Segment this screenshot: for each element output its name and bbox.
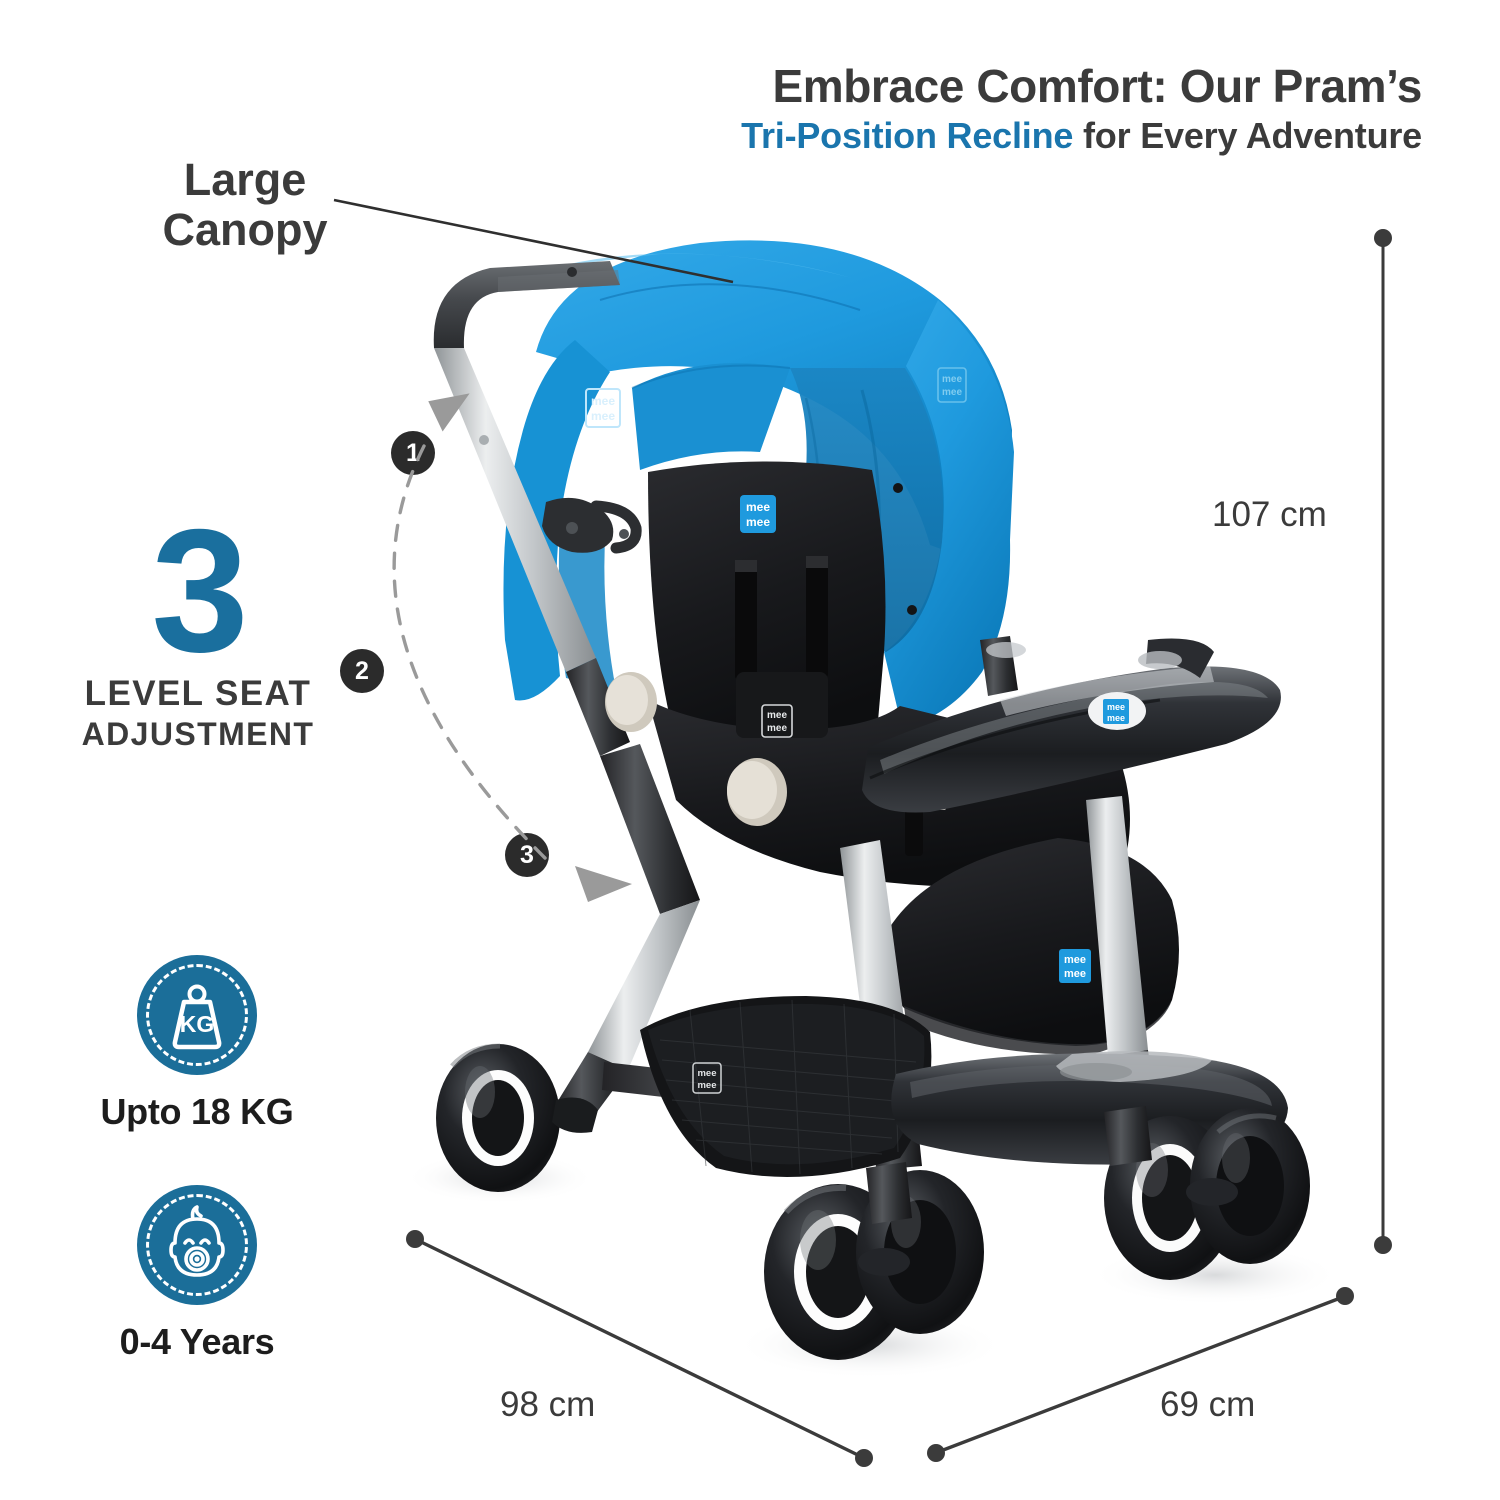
brand-logo-seat: mee mee (740, 495, 776, 533)
dimension-width-label: 69 cm (1160, 1385, 1255, 1425)
badge-age-label: 0-4 Years (52, 1321, 342, 1363)
headline-line-2: Tri-Position Recline for Every Adventure (741, 117, 1422, 155)
dimension-endpoint (1374, 1236, 1392, 1254)
rear-axle-right (1104, 1106, 1152, 1166)
frame-tube-upper (434, 348, 596, 672)
rear-wheel-mount (874, 1108, 922, 1170)
svg-text:mee: mee (942, 374, 962, 385)
baby-face-icon (137, 1185, 257, 1305)
frame-tube-rear (840, 840, 916, 1114)
badge-weight: KG Upto 18 KG (52, 955, 342, 1133)
svg-text:mee: mee (746, 500, 770, 514)
recline-step-3: 3 (505, 833, 549, 877)
brand-logo-text-bottom: mee (591, 409, 615, 423)
wheel-rear-left-back (856, 1170, 984, 1334)
seat-pivot-knob (605, 672, 657, 732)
swivel-lock (858, 1248, 910, 1276)
recline-knob (727, 758, 787, 826)
handle-bar (434, 261, 620, 348)
infographic-canvas: Embrace Comfort: Our Pram’s Tri-Position… (0, 0, 1500, 1500)
callout-large-canopy-line-1: Large (120, 155, 370, 205)
brand-logo-canopy: mee mee (586, 389, 620, 427)
brand-logo-tray: mee mee (1088, 692, 1146, 730)
seat-adjustment-line-1: LEVEL SEAT (48, 674, 348, 714)
frame (434, 348, 1156, 1170)
frame-tube-front (588, 900, 700, 1070)
svg-text:mee: mee (942, 387, 962, 398)
dimension-endpoint (406, 1230, 424, 1248)
seat-adjustment-number: 3 (48, 520, 348, 664)
svg-text:mee: mee (1107, 713, 1125, 723)
dimension-endpoint (1336, 1287, 1354, 1305)
weight-kg-icon-text: KG (180, 1011, 215, 1037)
care-tag (920, 780, 946, 810)
badge-age: 0-4 Years (52, 1185, 342, 1363)
annotation-lines (334, 200, 1392, 1467)
brand-logo-canopy-inner: mee mee (938, 368, 966, 402)
bumper-tray: mee mee (862, 636, 1281, 813)
storage-basket: mee mee (640, 996, 931, 1177)
callout-large-canopy: Large Canopy (120, 155, 370, 256)
seat-fabric: mee mee mee mee (648, 461, 1130, 887)
rear-axle-left (866, 1162, 912, 1224)
wheel-rear-right (1104, 1116, 1236, 1280)
lower-cross-tube (602, 1062, 900, 1124)
dimension-endpoint (1374, 229, 1392, 247)
seat-adjustment-line-2: ADJUSTMENT (48, 716, 348, 753)
dimension-line-width (938, 1297, 1343, 1452)
recline-arc (394, 446, 545, 858)
wheel-rear-right-back (1190, 1108, 1310, 1264)
svg-text:mee: mee (1064, 968, 1086, 980)
canopy-rivet (869, 683, 879, 693)
svg-text:mee: mee (767, 710, 787, 721)
dimension-length-label: 98 cm (500, 1385, 595, 1425)
crotch-pad (736, 672, 828, 738)
headline: Embrace Comfort: Our Pram’s Tri-Position… (741, 62, 1422, 155)
footrest (891, 1051, 1288, 1165)
badge-weight-circle: KG (137, 955, 257, 1075)
handle-rivet (567, 267, 577, 277)
frame-tube-mid (600, 744, 700, 914)
brand-logo-footmuff: mee mee (1059, 949, 1091, 983)
badge-age-circle (137, 1185, 257, 1305)
dimension-endpoint (927, 1444, 945, 1462)
wheel-shadow (405, 1152, 595, 1204)
svg-text:mee: mee (767, 723, 787, 734)
headline-line-1: Embrace Comfort: Our Pram’s (741, 62, 1422, 111)
svg-text:mee: mee (697, 1080, 716, 1091)
callout-large-canopy-line-2: Canopy (120, 205, 370, 255)
swivel-lock (1186, 1178, 1238, 1206)
brand-logo-text-top: mee (591, 394, 615, 408)
svg-text:mee: mee (697, 1068, 716, 1079)
tray-arm (980, 636, 1018, 696)
front-wheel-mount (556, 1052, 628, 1124)
canopy-rivet (893, 483, 903, 493)
step-pad (1056, 1051, 1212, 1082)
brake-lever (552, 1098, 598, 1133)
dimension-line-length (417, 1240, 862, 1457)
brand-logo-basket: mee mee (693, 1063, 721, 1093)
recline-arrow-start (428, 393, 474, 433)
wheel-rear-left (764, 1184, 912, 1360)
canopy-clamp (542, 498, 636, 553)
dimension-endpoint (855, 1449, 873, 1467)
leader-line-canopy (334, 200, 733, 282)
badge-weight-label: Upto 18 KG (52, 1091, 342, 1133)
canopy-rivet (907, 605, 917, 615)
recline-step-2: 2 (340, 649, 384, 693)
svg-text:mee: mee (1107, 702, 1125, 712)
harness-strap (735, 560, 757, 680)
seat-adjustment-callout: 3 LEVEL SEAT ADJUSTMENT (48, 520, 348, 753)
recline-arrow-end (575, 866, 632, 902)
harness-strap (905, 760, 923, 856)
recline-step-1: 1 (391, 431, 435, 475)
harness-strap (806, 556, 828, 678)
svg-text:mee: mee (746, 515, 770, 529)
headline-rest: for Every Adventure (1073, 115, 1422, 156)
canopy: mee mee mee mee (503, 240, 1014, 728)
dimension-height-label: 107 cm (1212, 495, 1327, 535)
wheel-front-left (436, 1044, 560, 1192)
frame-joint (566, 658, 630, 756)
svg-text:mee: mee (1064, 954, 1086, 966)
rear-wheel-mount (1108, 1050, 1156, 1112)
wheel-shadow (735, 1311, 1005, 1379)
footmuff: mee mee (882, 838, 1179, 1054)
weight-kg-icon: KG (137, 955, 257, 1075)
brand-logo-seat-lower: mee mee (762, 705, 792, 737)
wheel-shadow (1090, 1245, 1340, 1305)
headline-accent: Tri-Position Recline (741, 115, 1073, 156)
frame-rivet (479, 435, 489, 445)
frame-tube-rear-right (1086, 796, 1148, 1056)
